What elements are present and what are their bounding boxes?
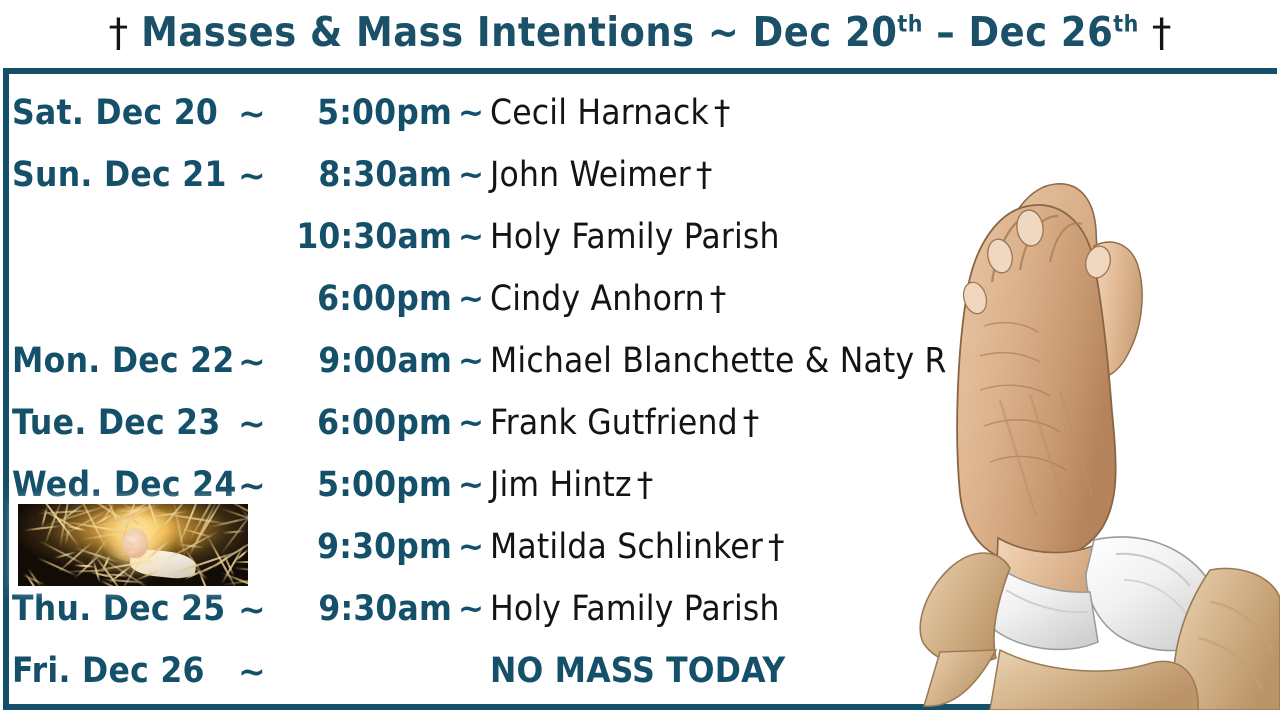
row-tilde-separator: ~: [238, 94, 296, 133]
row-day-label: Sat. Dec 20: [6, 93, 238, 133]
row-intention-name: Jim Hintz†: [490, 465, 653, 505]
cross-icon-deceased: †: [705, 279, 727, 318]
row-day-label: Fri. Dec 26: [6, 651, 238, 691]
row-day-label: Tue. Dec 23: [6, 403, 238, 443]
row-time-name-separator: ~: [452, 343, 490, 379]
cross-icon-deceased: †: [763, 527, 785, 566]
row-time-label: 6:00pm: [296, 279, 452, 319]
row-time-label: 9:00am: [296, 341, 452, 381]
row-intention-name: Frank Gutfriend†: [490, 403, 760, 443]
cross-icon-deceased: †: [691, 155, 713, 194]
row-time-label: 5:00pm: [296, 93, 452, 133]
cross-icon-deceased: †: [738, 403, 760, 442]
row-intention-name: Michael Blanchette & Naty R: [490, 341, 947, 381]
row-intention-name: Matilda Schlinker†: [490, 527, 785, 567]
title-main-text: Masses & Mass Intentions ~ Dec 20th – De…: [141, 12, 1139, 53]
straw-strand: [58, 541, 94, 573]
row-day-label: Thu. Dec 25: [6, 589, 238, 629]
row-time-label: 10:30am: [296, 217, 452, 257]
row-tilde-separator: ~: [238, 404, 296, 443]
row-intention-name: Cecil Harnack†: [490, 93, 731, 133]
straw-strand: [233, 566, 248, 572]
cross-icon-trailing: †: [1152, 14, 1172, 53]
cross-icon-deceased: †: [709, 93, 731, 132]
row-time-name-separator: ~: [452, 467, 490, 503]
row-time-name-separator: ~: [452, 529, 490, 565]
row-time-label: 8:30am: [296, 155, 452, 195]
row-time-name-separator: ~: [452, 157, 490, 193]
row-tilde-separator: ~: [238, 590, 296, 629]
row-day-label: Sun. Dec 21: [6, 155, 238, 195]
row-tilde-separator: ~: [238, 652, 296, 691]
row-tilde-separator: ~: [238, 466, 296, 505]
straw-strand: [231, 560, 248, 562]
row-time-name-separator: ~: [452, 281, 490, 317]
ordinal-suffix-end: th: [1113, 11, 1139, 37]
row-time-name-separator: ~: [452, 219, 490, 255]
row-time-label: 9:30pm: [296, 527, 452, 567]
ordinal-suffix-start: th: [897, 11, 923, 37]
mass-schedule-row: Sat. Dec 20~5:00pm~Cecil Harnack†: [6, 82, 1280, 144]
row-day-label: Wed. Dec 24: [6, 465, 238, 505]
row-intention-name: John Weimer†: [490, 155, 713, 195]
row-intention-name: Cindy Anhorn†: [490, 279, 726, 319]
nativity-image: [18, 504, 248, 586]
row-time-name-separator: ~: [452, 591, 490, 627]
row-tilde-separator: ~: [238, 156, 296, 195]
straw-strand: [222, 530, 245, 534]
row-intention-name: Holy Family Parish: [490, 217, 780, 257]
row-time-label: 9:30am: [296, 589, 452, 629]
row-tilde-separator: ~: [238, 342, 296, 381]
row-time-name-separator: ~: [452, 95, 490, 131]
row-day-label: Mon. Dec 22: [6, 341, 238, 381]
row-no-mass-notice: NO MASS TODAY: [490, 651, 785, 691]
row-time-name-separator: ~: [452, 405, 490, 441]
cross-icon-deceased: †: [632, 465, 654, 504]
row-intention-name: Holy Family Parish: [490, 589, 780, 629]
praying-hands-image: [880, 150, 1280, 710]
row-time-label: 6:00pm: [296, 403, 452, 443]
cross-icon-leading: †: [109, 14, 129, 53]
row-time-label: 5:00pm: [296, 465, 452, 505]
page-title: † Masses & Mass Intentions ~ Dec 20th – …: [0, 0, 1280, 64]
